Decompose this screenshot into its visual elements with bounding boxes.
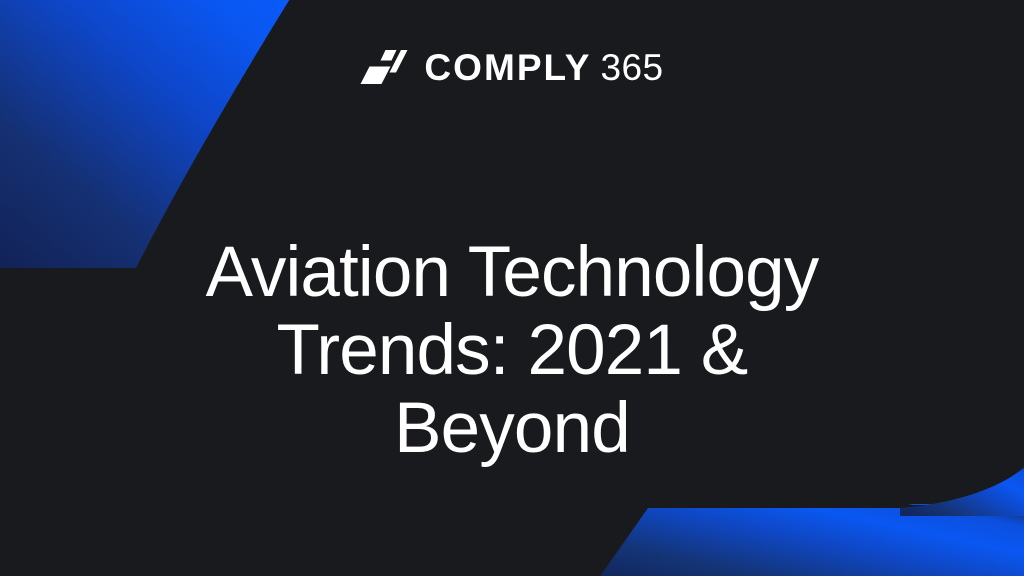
- shape-bottom-band-curve: [900, 462, 1024, 516]
- shape-bottom-band: [596, 508, 1024, 576]
- shape-top-left: [0, 0, 293, 268]
- shape-bottom-right-curve-mask: [905, 446, 1024, 504]
- slide-title-line-1: Aviation Technology: [112, 234, 912, 312]
- slide-title-line-2: Trends: 2021 &: [112, 312, 912, 390]
- brand-name-light: 365: [601, 49, 664, 86]
- title-slide: COMPLY 365 Aviation Technology Trends: 2…: [0, 0, 1024, 576]
- brand-name-bold: COMPLY: [424, 49, 591, 86]
- comply365-chevron-mark: [360, 49, 408, 85]
- slide-title: Aviation Technology Trends: 2021 & Beyon…: [112, 234, 912, 468]
- slide-title-line-3: Beyond: [112, 390, 912, 468]
- brand-logo: COMPLY 365: [0, 44, 1024, 90]
- brand-wordmark: COMPLY 365: [424, 49, 663, 86]
